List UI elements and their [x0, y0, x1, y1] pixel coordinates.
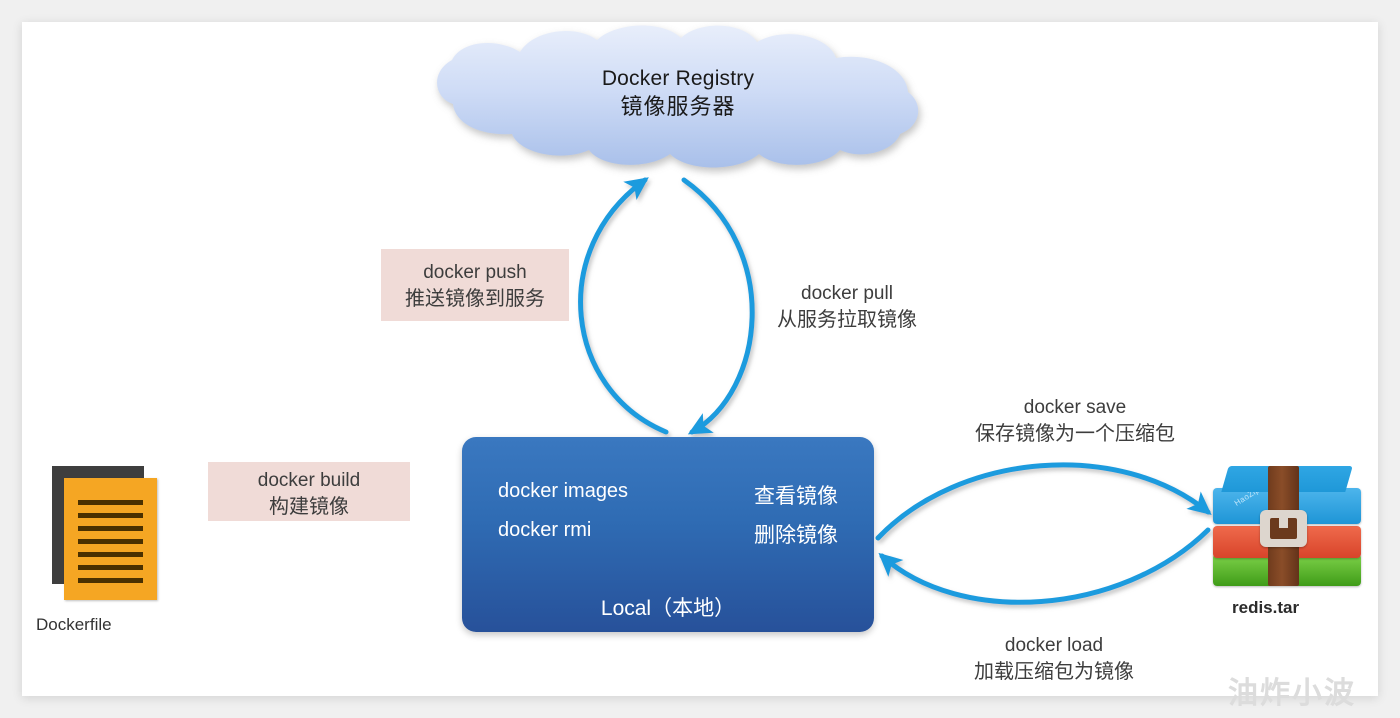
dockerfile-icon: [46, 466, 164, 602]
dockerfile-line: [78, 513, 143, 518]
local-command-1: docker rmi: [498, 519, 591, 549]
edge-command-save: docker save: [950, 396, 1200, 421]
local-command-row: docker rmi 删除镜像: [462, 519, 874, 549]
dockerfile-line: [78, 565, 143, 570]
edge-desc-pull: 从服务拉取镜像: [748, 307, 946, 333]
archive-buckle-tongue: [1279, 518, 1288, 528]
archive-label: redis.tar: [1232, 598, 1299, 618]
edge-command-pull: docker pull: [748, 282, 946, 307]
local-footer-label: Local（本地）: [462, 592, 874, 622]
local-node: docker images 查看镜像 docker rmi 删除镜像 Local…: [462, 437, 874, 632]
registry-name-cn: 镜像服务器: [428, 93, 928, 121]
edge-command-push: docker push: [381, 261, 569, 286]
edge-label-docker-save: docker save 保存镜像为一个压缩包: [950, 396, 1200, 447]
local-command-desc-1: 删除镜像: [754, 519, 838, 549]
diagram-canvas: Docker Registry 镜像服务器 docker images 查看镜像…: [0, 0, 1400, 718]
edge-label-docker-load: docker load 加载压缩包为镜像: [950, 634, 1158, 685]
dockerfile-line: [78, 526, 143, 531]
edge-desc-push: 推送镜像到服务: [381, 286, 569, 312]
local-command-0: docker images: [498, 480, 628, 510]
dockerfile-label: Dockerfile: [36, 615, 112, 635]
registry-node: Docker Registry 镜像服务器: [428, 28, 928, 173]
archive-tar-icon: HaoZip: [1213, 466, 1361, 586]
dockerfile-line: [78, 539, 143, 544]
archive-buckle: [1260, 510, 1307, 547]
edge-label-docker-pull: docker pull 从服务拉取镜像: [748, 282, 946, 333]
edge-desc-load: 加载压缩包为镜像: [950, 659, 1158, 685]
local-command-desc-0: 查看镜像: [754, 480, 838, 510]
local-command-row: docker images 查看镜像: [462, 480, 874, 510]
dockerfile-line: [78, 552, 143, 557]
edge-desc-save: 保存镜像为一个压缩包: [950, 421, 1200, 447]
edge-desc-build: 构建镜像: [208, 494, 410, 520]
edge-command-load: docker load: [950, 634, 1158, 659]
edge-label-docker-build: docker build 构建镜像: [208, 462, 410, 521]
dockerfile-line: [78, 500, 143, 505]
registry-name-en: Docker Registry: [428, 66, 928, 93]
edge-label-docker-push: docker push 推送镜像到服务: [381, 249, 569, 321]
dockerfile-line: [78, 578, 143, 583]
dockerfile-front-sheet: [64, 478, 157, 600]
watermark: 油炸小波: [1228, 668, 1356, 712]
archive-buckle-hole: [1270, 518, 1297, 539]
registry-label: Docker Registry 镜像服务器: [428, 66, 928, 121]
edge-command-build: docker build: [208, 469, 410, 494]
